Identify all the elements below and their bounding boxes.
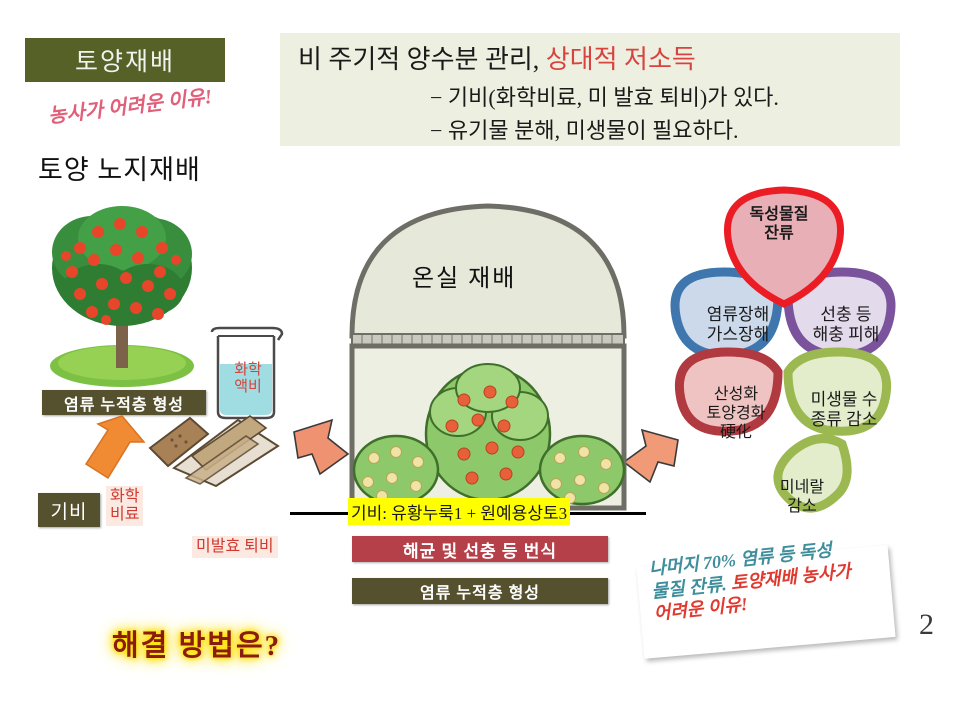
chemical-fertilizer-line1: 화학 <box>110 488 139 505</box>
note-line-1-highlight: 상대적 저소득 <box>546 45 696 74</box>
apple-tree-illustration <box>36 190 208 390</box>
petal-acidification <box>679 352 778 431</box>
beaker-label-line1: 화학 <box>234 362 262 378</box>
up-arrow-icon <box>72 412 148 484</box>
slide-title: 토양재배 <box>75 42 175 78</box>
problem-petal-diagram <box>650 176 920 526</box>
greenhouse-label: 온실 재배 <box>412 258 516 293</box>
handwritten-reason-note: 농사가 어려운 이유! <box>46 75 258 129</box>
petal-mineral <box>778 439 847 509</box>
solution-question: 해결 방법은? <box>112 622 281 664</box>
top-note-box: 비 주기적 양수분 관리, 상대적 저소득 − 기비(화학비료, 미 발효 퇴비… <box>280 33 900 146</box>
raw-compost-label: 미발효 퇴비 <box>192 536 278 558</box>
base-fertilizer-box: 기비 <box>38 493 100 527</box>
note-line-3: − 유기물 분해, 미생물이 필요하다. <box>430 113 739 145</box>
beaker-label-line2: 액비 <box>234 379 262 395</box>
note-line-2: − 기비(화학비료, 미 발효 퇴비)가 있다. <box>430 80 779 112</box>
chemical-fertilizer-label: 화학 비료 <box>106 486 143 526</box>
slide-canvas: 토양재배 농사가 어려운 이유! 토양 노지재배 비 주기적 양수분 관리, 상… <box>0 0 960 720</box>
note-line-1: 비 주기적 양수분 관리, 상대적 저소득 <box>298 39 696 76</box>
section-subtitle: 토양 노지재배 <box>38 148 201 187</box>
chemical-fertilizer-line2: 비료 <box>110 506 139 523</box>
beaker-label: 화학 액비 <box>226 362 270 397</box>
note-line-1-main: 비 주기적 양수분 관리, <box>298 45 546 74</box>
petal-microbe <box>788 352 887 431</box>
compost-bags-illustration <box>146 412 286 488</box>
pest-propagation-bar: 해균 및 선충 등 번식 <box>352 536 608 562</box>
page-number: 2 <box>919 608 934 642</box>
greenhouse-illustration <box>338 186 638 512</box>
base-fertilizer-recipe-label: 기비: 유황누룩1 + 원예용상토3 <box>348 498 570 525</box>
slide-title-bar: 토양재배 <box>25 38 225 82</box>
greenhouse-salt-layer-bar: 염류 누적층 형성 <box>352 578 608 604</box>
